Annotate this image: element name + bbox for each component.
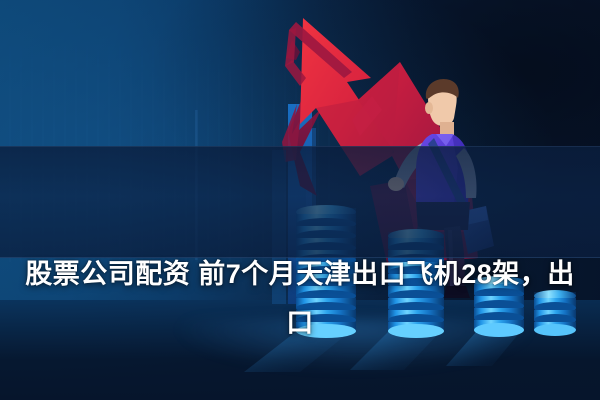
band-top-divider [0,146,600,147]
page-title: 股票公司配资 前7个月天津出口飞机28架，出口 量全国居首 [0,152,600,400]
news-thumbnail: 股票公司配资 前7个月天津出口飞机28架，出口 量全国居首 [0,0,600,400]
headline-line-1: 股票公司配资 前7个月天津出口飞机28架，出口 [18,250,582,348]
